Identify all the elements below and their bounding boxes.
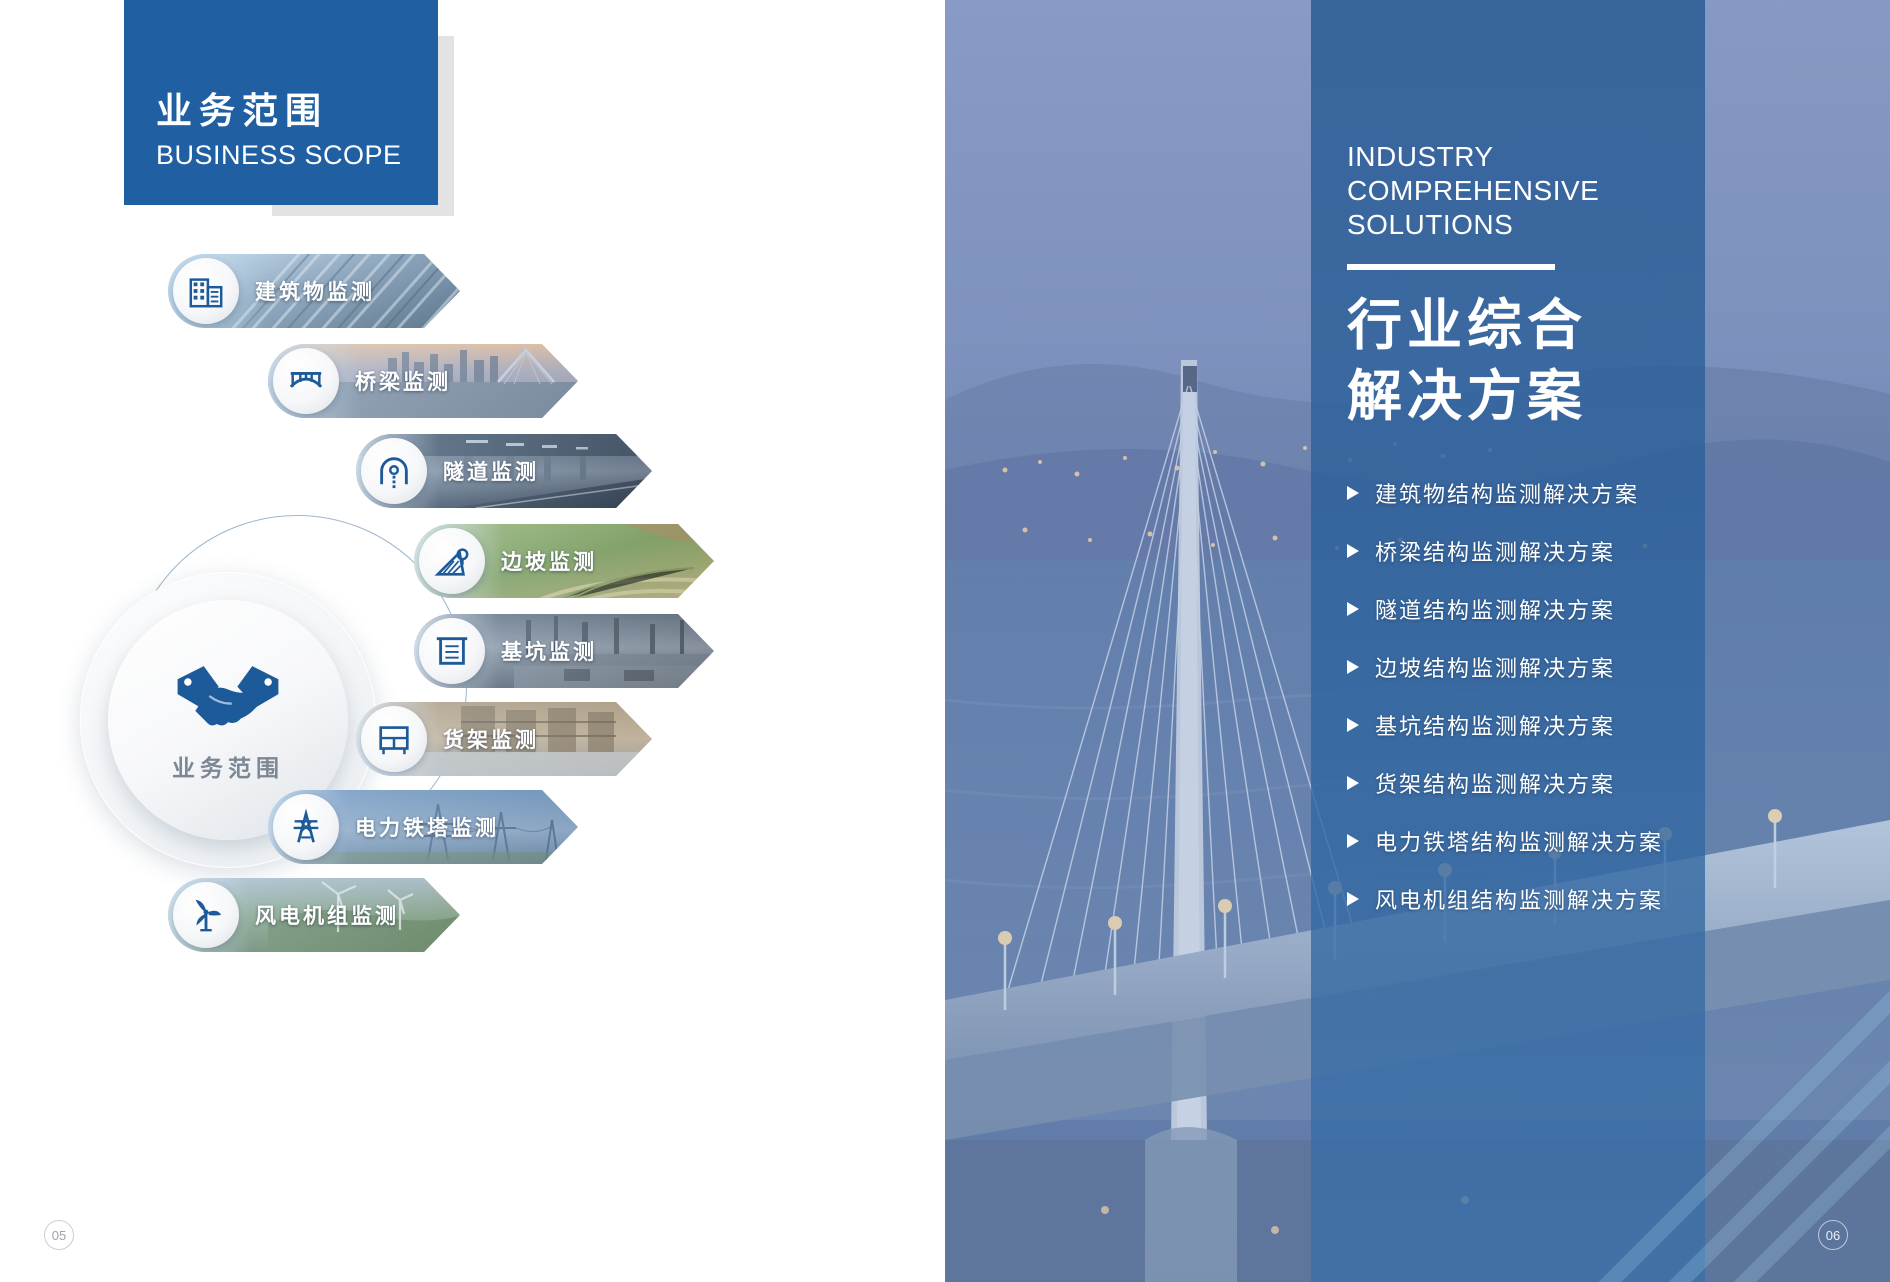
scope-item-label: 电力铁塔监测	[355, 812, 499, 842]
triangle-bullet-icon	[1347, 834, 1359, 848]
list-item[interactable]: 桥梁结构监测解决方案	[1347, 535, 1747, 567]
wind-turbine-icon	[187, 896, 225, 934]
scope-item-foundation-pit[interactable]: 基坑监测	[414, 614, 714, 688]
scope-item-label: 建筑物监测	[255, 276, 375, 306]
eyebrow-line-2: COMPREHENSIVE	[1347, 174, 1747, 208]
left-page: 业务范围 BUSINESS SCOPE 业务范围	[0, 0, 945, 1282]
list-item[interactable]: 基坑结构监测解决方案	[1347, 709, 1747, 741]
power-tower-icon	[287, 808, 325, 846]
solution-label: 基坑结构监测解决方案	[1375, 709, 1615, 741]
solutions-list: 建筑物结构监测解决方案 桥梁结构监测解决方案 隧道结构监测解决方案 边坡结构监测…	[1347, 477, 1747, 915]
scope-item-label: 桥梁监测	[355, 366, 451, 396]
scope-item-label: 基坑监测	[501, 636, 597, 666]
scope-item-label: 货架监测	[443, 724, 539, 754]
shelf-rack-icon	[375, 720, 413, 758]
solution-label: 边坡结构监测解决方案	[1375, 651, 1615, 683]
brochure-spread: 业务范围 BUSINESS SCOPE 业务范围	[0, 0, 1890, 1282]
scope-item-bridge[interactable]: 桥梁监测	[268, 344, 578, 418]
bridge-icon	[287, 362, 325, 400]
eyebrow-line-1: INDUSTRY	[1347, 140, 1747, 174]
scope-item-label: 隧道监测	[443, 456, 539, 486]
tunnel-icon	[375, 452, 413, 490]
list-item[interactable]: 货架结构监测解决方案	[1347, 767, 1747, 799]
scope-item-label: 边坡监测	[501, 546, 597, 576]
solution-label: 电力铁塔结构监测解决方案	[1375, 825, 1663, 857]
solution-label: 隧道结构监测解决方案	[1375, 593, 1615, 625]
triangle-bullet-icon	[1347, 718, 1359, 732]
page-number-right: 06	[1818, 1220, 1848, 1250]
triangle-bullet-icon	[1347, 892, 1359, 906]
badge	[173, 258, 239, 324]
triangle-bullet-icon	[1347, 602, 1359, 616]
title-rule	[1347, 264, 1555, 270]
triangle-bullet-icon	[1347, 660, 1359, 674]
solutions-content: INDUSTRY COMPREHENSIVE SOLUTIONS 行业综合 解决…	[1347, 140, 1747, 941]
page-number-left: 05	[44, 1220, 74, 1250]
right-page: INDUSTRY COMPREHENSIVE SOLUTIONS 行业综合 解决…	[945, 0, 1890, 1282]
heading-line-1: 行业综合	[1347, 290, 1747, 360]
scope-item-slope[interactable]: 边坡监测	[414, 524, 714, 598]
solution-label: 风电机组结构监测解决方案	[1375, 883, 1663, 915]
solution-label: 桥梁结构监测解决方案	[1375, 535, 1615, 567]
badge	[361, 438, 427, 504]
center-circle-label: 业务范围	[172, 749, 284, 783]
badge	[361, 706, 427, 772]
scope-item-tunnel[interactable]: 隧道监测	[356, 434, 652, 508]
list-item[interactable]: 建筑物结构监测解决方案	[1347, 477, 1747, 509]
arrow-shape: 电力铁塔监测	[268, 790, 578, 864]
scope-item-power-tower[interactable]: 电力铁塔监测	[268, 790, 578, 864]
page-title-cn: 业务范围	[156, 88, 438, 133]
arrow-shape: 隧道监测	[356, 434, 652, 508]
badge	[173, 882, 239, 948]
building-icon	[187, 272, 225, 310]
triangle-bullet-icon	[1347, 486, 1359, 500]
list-item[interactable]: 风电机组结构监测解决方案	[1347, 883, 1747, 915]
arrow-shape: 风电机组监测	[168, 878, 460, 952]
solution-label: 建筑物结构监测解决方案	[1375, 477, 1639, 509]
badge	[419, 528, 485, 594]
heading-line-2: 解决方案	[1347, 361, 1747, 431]
scope-item-wind-turbine[interactable]: 风电机组监测	[168, 878, 460, 952]
scope-item-building[interactable]: 建筑物监测	[168, 254, 460, 328]
solution-label: 货架结构监测解决方案	[1375, 767, 1615, 799]
photo-tint-left	[945, 0, 1311, 1282]
page-title-en: BUSINESS SCOPE	[156, 140, 438, 171]
triangle-bullet-icon	[1347, 544, 1359, 558]
badge	[419, 618, 485, 684]
arrow-shape: 基坑监测	[414, 614, 714, 688]
section-title-block: 业务范围 BUSINESS SCOPE	[124, 0, 438, 205]
handshake-icon	[172, 657, 284, 735]
arrow-shape: 桥梁监测	[268, 344, 578, 418]
arrow-shape: 建筑物监测	[168, 254, 460, 328]
triangle-bullet-icon	[1347, 776, 1359, 790]
arrow-shape: 边坡监测	[414, 524, 714, 598]
badge	[273, 348, 339, 414]
list-item[interactable]: 隧道结构监测解决方案	[1347, 593, 1747, 625]
scope-item-label: 风电机组监测	[255, 900, 399, 930]
list-item[interactable]: 电力铁塔结构监测解决方案	[1347, 825, 1747, 857]
arrow-shape: 货架监测	[356, 702, 652, 776]
slope-icon	[433, 542, 471, 580]
list-item[interactable]: 边坡结构监测解决方案	[1347, 651, 1747, 683]
eyebrow-line-3: SOLUTIONS	[1347, 208, 1747, 242]
foundation-pit-icon	[433, 632, 471, 670]
scope-item-shelf-rack[interactable]: 货架监测	[356, 702, 652, 776]
badge	[273, 794, 339, 860]
